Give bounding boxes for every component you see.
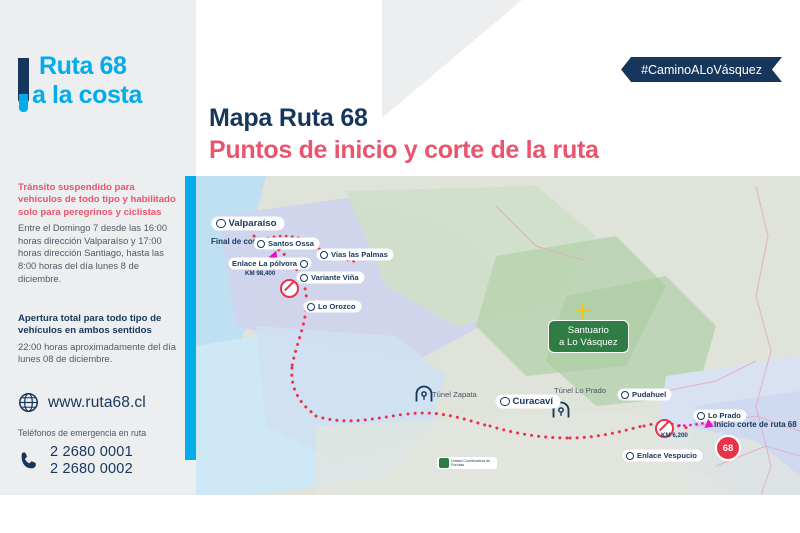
map-label-vias-las-palmas[interactable]: Vias las Palmas <box>317 249 393 260</box>
map-label-text: Lo Prado <box>708 411 741 420</box>
phone-icon <box>18 450 40 472</box>
reopen-block: Apertura total para todo tipo de vehícul… <box>18 313 180 366</box>
map-point-icon <box>216 219 226 229</box>
map-label-text: Lo Orozco <box>318 302 356 311</box>
map-label-text: Pudahuel <box>632 390 666 399</box>
phone-label: Teléfonos de emergencia en ruta <box>18 428 146 438</box>
globe-icon <box>18 392 39 413</box>
map-label-text: Valparaíso <box>229 218 277 229</box>
map-point-icon <box>621 391 629 399</box>
map-label-text: Curacaví <box>513 396 554 407</box>
map-point-icon <box>307 303 315 311</box>
no-entry-icon-west <box>280 279 299 298</box>
map-point-icon <box>300 260 308 268</box>
map-point-icon <box>500 397 510 407</box>
km-marker-west: KM 98,400 <box>245 270 275 277</box>
infographic-page: Ruta 68 a la costa Tránsito suspendido p… <box>0 0 800 533</box>
conaf-badge: Unidad Coordinadora de Pórtulas <box>437 457 497 469</box>
page-title: Mapa Ruta 68 <box>209 104 368 133</box>
map-geography <box>196 176 800 495</box>
note-inicio-corte-text: Inicio corte de ruta 68 <box>714 420 797 429</box>
map-label-enlace-la-polvora[interactable]: Enlace La pólvora <box>229 258 311 269</box>
sanctuary-sign: Santuario a Lo Vásquez <box>548 320 629 353</box>
footer-spacer <box>0 495 800 533</box>
alert-block: Tránsito suspendido para vehículos de to… <box>18 182 180 285</box>
map-label-text: Enlace Vespucio <box>637 451 697 460</box>
sanctuary-line1: Santuario <box>559 325 618 337</box>
map-label-text: Enlace La pólvora <box>232 259 297 268</box>
sidebar: Ruta 68 a la costa Tránsito suspendido p… <box>0 0 196 495</box>
map-label-tunel-zapata: Túnel Zapata <box>432 390 477 399</box>
route-shield-68: 68 <box>715 435 741 461</box>
map-label-enlace-vespucio[interactable]: Enlace Vespucio <box>623 450 702 461</box>
conaf-badge-text: Unidad Coordinadora de Pórtulas <box>451 459 495 468</box>
sanctuary-line2: a Lo Vásquez <box>559 337 618 349</box>
tunnel-zapata-icon <box>414 384 434 404</box>
reopen-body: 22:00 horas aproximadamente del día lune… <box>18 341 180 366</box>
map-label-text: Vias las Palmas <box>331 250 388 259</box>
map-point-icon <box>697 412 705 420</box>
header-wedge-decoration <box>382 0 522 118</box>
cyan-accent-strip <box>185 176 196 460</box>
brand-line1: Ruta 68 <box>18 52 193 81</box>
note-inicio-corte: Inicio corte de ruta 68 <box>714 420 797 430</box>
map-label-pudahuel[interactable]: Pudahuel <box>618 389 671 400</box>
conaf-square-icon <box>439 458 449 468</box>
map-label-text: Túnel Zapata <box>432 390 477 399</box>
map-label-variante-vina[interactable]: Variante Viña <box>297 272 364 283</box>
map-label-text: Túnel Lo Prado <box>554 386 606 395</box>
km-marker-east: KM 6,200 <box>661 432 688 439</box>
phone-row: 2 2680 0001 2 2680 0002 <box>18 444 133 478</box>
map-label-valparaiso[interactable]: Valparaíso <box>212 217 284 230</box>
map-point-icon <box>626 452 634 460</box>
page-subtitle: Puntos de inicio y corte de la ruta <box>209 136 599 165</box>
phone-number-2: 2 2680 0002 <box>50 461 133 478</box>
map-label-santos-ossa[interactable]: Santos Ossa <box>254 238 319 249</box>
website-row[interactable]: www.ruta68.cl <box>18 392 146 413</box>
brand-logo: Ruta 68 a la costa <box>18 52 193 110</box>
map-label-lo-orozco[interactable]: Lo Orozco <box>304 301 361 312</box>
map-canvas[interactable]: Valparaíso Final de corte ruta 68 Santos… <box>196 176 800 495</box>
map-label-text: Variante Viña <box>311 273 359 282</box>
phone-number-1: 2 2680 0001 <box>50 444 133 461</box>
map-point-icon <box>320 251 328 259</box>
reopen-heading: Apertura total para todo tipo de vehícul… <box>18 313 180 338</box>
brand-line2: a la costa <box>18 81 193 110</box>
brand-bar-icon <box>18 58 29 104</box>
hashtag-banner: #CaminoALoVásquez <box>621 57 782 82</box>
map-point-icon <box>257 240 265 248</box>
map-point-icon <box>300 274 308 282</box>
alert-body: Entre el Domingo 7 desde las 16:00 horas… <box>18 222 180 285</box>
alert-heading: Tránsito suspendido para vehículos de to… <box>18 182 180 219</box>
phone-numbers: 2 2680 0001 2 2680 0002 <box>50 444 133 478</box>
map-label-text: Santos Ossa <box>268 239 314 248</box>
website-url[interactable]: www.ruta68.cl <box>48 394 146 412</box>
map-label-tunel-lo-prado: Túnel Lo Prado <box>554 386 606 395</box>
map-label-curacavi[interactable]: Curacaví <box>496 395 560 408</box>
